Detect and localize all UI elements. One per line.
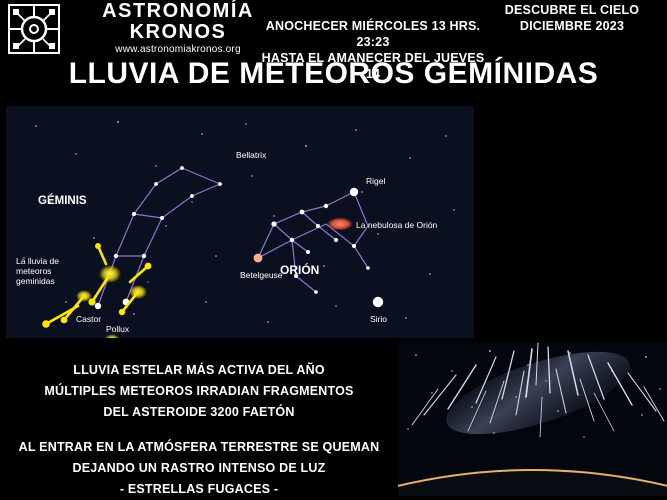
- poster-root: ASTRONOMÍA KRONOS www.astronomiakronos.o…: [0, 0, 667, 496]
- label-betelgeuse: Betelgeuse: [240, 270, 283, 280]
- event-time-line-1: ANOCHECER MIÉRCOLES 13 HRS. 23:23: [258, 18, 488, 50]
- description-line-2: MÚLTIPLES METEOROS IRRADIAN FRAGMENTOS: [0, 381, 398, 402]
- tagline-line-2: DICIEMBRE 2023: [483, 18, 661, 34]
- tagline-block: DESCUBRE EL CIELO DICIEMBRE 2023: [483, 2, 661, 34]
- label-pollux: Pollux: [106, 324, 130, 334]
- star-map: GÉMINIS ORIÓN Bellatrix Rigel Betelgeuse…: [6, 106, 474, 338]
- label-rigel: Rigel: [366, 176, 385, 186]
- label-shower-1: La lluvia de: [16, 256, 59, 266]
- label-bellatrix: Bellatrix: [236, 150, 267, 160]
- description-line-4: AL ENTRAR EN LA ATMÓSFERA TERRESTRE SE Q…: [0, 437, 398, 458]
- label-nebula: La nebulosa de Orión: [356, 220, 438, 230]
- label-sirius: Sirio: [370, 314, 387, 324]
- description-spacer: [0, 423, 398, 437]
- tagline-line-1: DESCUBRE EL CIELO: [483, 2, 661, 18]
- header: ASTRONOMÍA KRONOS www.astronomiakronos.o…: [0, 0, 667, 58]
- description-line-1: LLUVIA ESTELAR MÁS ACTIVA DEL AÑO: [0, 360, 398, 381]
- label-orion: ORIÓN: [280, 262, 319, 277]
- page-title: LLUVIA DE METEOROS GEMÍNIDAS: [0, 57, 667, 91]
- description-line-5: DEJANDO UN RASTRO INTENSO DE LUZ: [0, 458, 398, 479]
- label-shower-3: geminidas: [16, 276, 55, 286]
- meteor-shower-photo: [398, 341, 667, 496]
- label-shower-2: meteoros: [16, 266, 51, 276]
- description-block: LLUVIA ESTELAR MÁS ACTIVA DEL AÑO MÚLTIP…: [0, 360, 398, 500]
- description-line-3: DEL ASTEROIDE 3200 FAETÓN: [0, 402, 398, 423]
- astronomy-kronos-logo-icon: [8, 4, 60, 54]
- description-line-6: - ESTRELLAS FUGACES -: [0, 479, 398, 500]
- label-gemini: GÉMINIS: [38, 194, 87, 207]
- label-castor: Castor: [76, 314, 101, 324]
